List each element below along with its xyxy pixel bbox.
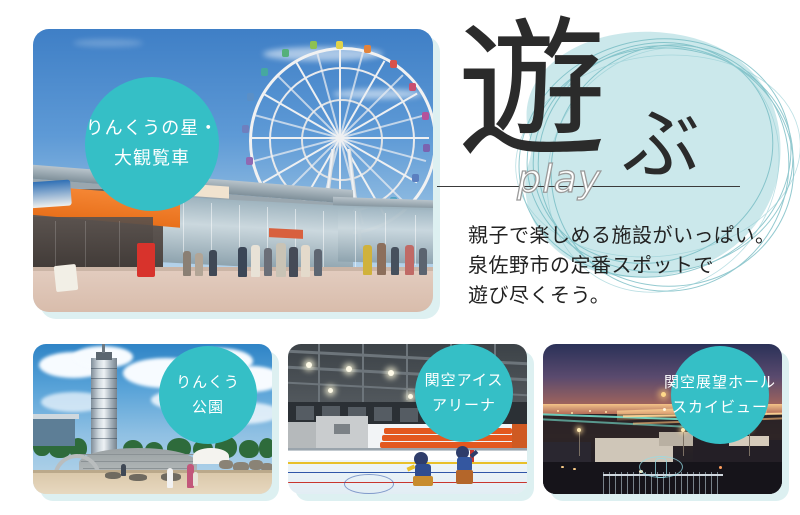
thumb-card-rinku-park[interactable]: りんくう 公園	[33, 344, 272, 494]
title-kana-bu: ぶ	[622, 106, 700, 184]
hero-photo-card[interactable]: りんくうの星・ 大観覧車	[33, 29, 433, 312]
title-romaji-play: play	[517, 160, 601, 198]
hero-label-bubble[interactable]: りんくうの星・ 大観覧車	[85, 77, 219, 211]
lead-line-3: 遊び尽くそう。	[468, 280, 788, 310]
thumb-photo-kanku-ice-arena: 関空アイス アリーナ	[288, 344, 527, 494]
title-kanji-asobu: 遊	[457, 16, 607, 166]
thumb-2-label-line-2: アリーナ	[432, 393, 496, 418]
thumb-2-label-line-1: 関空アイス	[425, 368, 504, 393]
hero-label-line-2: 大観覧車	[114, 144, 190, 174]
thumb-1-label-bubble[interactable]: りんくう 公園	[159, 346, 257, 444]
thumb-photo-kanku-skyview: 関空展望ホール スカイビュー	[543, 344, 782, 494]
lead-line-1: 親子で楽しめる施設がいっぱい。	[468, 220, 788, 250]
thumb-card-kanku-ice-arena[interactable]: 関空アイス アリーナ	[288, 344, 527, 494]
thumb-3-label-line-1: 関空展望ホール	[664, 370, 776, 395]
thumb-card-kanku-skyview[interactable]: 関空展望ホール スカイビュー	[543, 344, 782, 494]
thumb-3-label-line-2: スカイビュー	[672, 395, 768, 420]
lead-paragraph: 親子で楽しめる施設がいっぱい。 泉佐野市の定番スポットで 遊び尽くそう。	[468, 220, 788, 310]
rinku-gate-tower	[91, 358, 117, 454]
hero-label-line-1: りんくうの星・	[86, 114, 219, 144]
section-title-block: 遊 ぶ play	[437, 20, 787, 210]
thumb-2-label-bubble[interactable]: 関空アイス アリーナ	[415, 344, 513, 442]
play-section-banner: りんくうの星・ 大観覧車	[0, 0, 800, 515]
thumb-1-label-line-1: りんくう	[176, 370, 240, 395]
thumb-1-label-line-2: 公園	[192, 395, 224, 420]
hero-photo-image: りんくうの星・ 大観覧車	[33, 29, 433, 312]
lead-line-2: 泉佐野市の定番スポットで	[468, 250, 788, 280]
thumb-photo-rinku-park: りんくう 公園	[33, 344, 272, 494]
thumb-3-label-bubble[interactable]: 関空展望ホール スカイビュー	[671, 346, 769, 444]
